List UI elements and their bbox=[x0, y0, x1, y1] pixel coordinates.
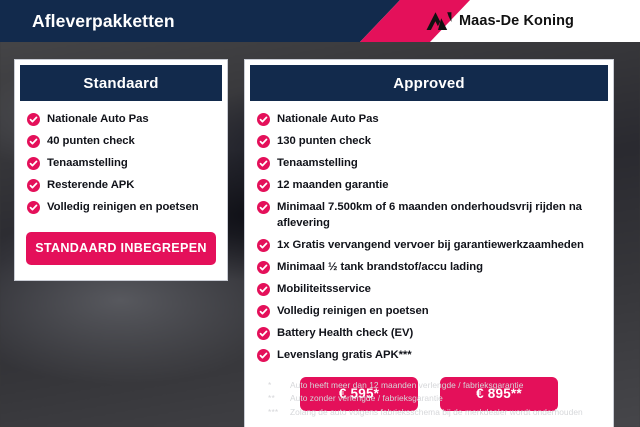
list-item: Tenaamstelling bbox=[27, 156, 217, 172]
list-item: 130 punten check bbox=[257, 134, 603, 150]
list-item: Tenaamstelling bbox=[257, 156, 603, 172]
footnote-marker: *** bbox=[268, 407, 286, 418]
footnote-row: *** Zolang de auto volgens fabrieksschem… bbox=[268, 407, 628, 418]
header-bar: Afleverpakketten Maas-De Koning bbox=[0, 0, 640, 42]
list-item: Volledig reinigen en poetsen bbox=[257, 304, 603, 320]
list-item: Volledig reinigen en poetsen bbox=[27, 200, 217, 216]
check-circle-icon bbox=[257, 305, 270, 318]
brand-logo: Maas-De Koning bbox=[426, 0, 574, 42]
card-header-standaard: Standaard bbox=[20, 65, 222, 101]
maas-de-koning-m-logo-icon bbox=[426, 11, 452, 31]
feature-label: Mobiliteitsservice bbox=[277, 282, 371, 298]
check-circle-icon bbox=[257, 201, 270, 214]
check-circle-icon bbox=[257, 283, 270, 296]
feature-list-standaard: Nationale Auto Pas 40 punten check Tenaa… bbox=[15, 101, 227, 216]
check-circle-icon bbox=[27, 201, 40, 214]
list-item: 1x Gratis vervangend vervoer bij garanti… bbox=[257, 238, 603, 254]
feature-label: 1x Gratis vervangend vervoer bij garanti… bbox=[277, 238, 584, 254]
check-circle-icon bbox=[257, 157, 270, 170]
list-item: Nationale Auto Pas bbox=[257, 112, 603, 128]
list-item: Minimaal 7.500km of 6 maanden onderhouds… bbox=[257, 200, 603, 231]
check-circle-icon bbox=[27, 135, 40, 148]
check-circle-icon bbox=[257, 327, 270, 340]
feature-label: 130 punten check bbox=[277, 134, 371, 150]
list-item: Levenslang gratis APK*** bbox=[257, 348, 603, 364]
card-header-approved: Approved bbox=[250, 65, 608, 101]
feature-label: Nationale Auto Pas bbox=[47, 112, 149, 128]
footnotes: * Auto heeft meer dan 12 maanden verleng… bbox=[268, 380, 628, 420]
check-circle-icon bbox=[257, 261, 270, 274]
package-card-approved: Approved Nationale Auto Pas 130 punten c… bbox=[244, 59, 614, 427]
list-item: Mobiliteitsservice bbox=[257, 282, 603, 298]
check-circle-icon bbox=[27, 179, 40, 192]
list-item: Minimaal ½ tank brandstof/accu lading bbox=[257, 260, 603, 276]
feature-label: Minimaal 7.500km of 6 maanden onderhouds… bbox=[277, 200, 603, 231]
feature-label: 40 punten check bbox=[47, 134, 135, 150]
feature-label: Tenaamstelling bbox=[277, 156, 358, 172]
page-title: Afleverpakketten bbox=[32, 0, 175, 42]
list-item: Nationale Auto Pas bbox=[27, 112, 217, 128]
card-title: Approved bbox=[393, 75, 465, 92]
check-circle-icon bbox=[27, 157, 40, 170]
check-circle-icon bbox=[257, 349, 270, 362]
list-item: 40 punten check bbox=[27, 134, 217, 150]
footnote-row: ** Auto zonder verlengde / fabrieksgaran… bbox=[268, 393, 628, 404]
feature-list-approved: Nationale Auto Pas 130 punten check Tena… bbox=[245, 101, 613, 364]
check-circle-icon bbox=[27, 113, 40, 126]
card-title: Standaard bbox=[83, 75, 158, 92]
feature-label: Nationale Auto Pas bbox=[277, 112, 379, 128]
feature-label: Resterende APK bbox=[47, 178, 134, 194]
check-circle-icon bbox=[257, 239, 270, 252]
feature-label: Volledig reinigen en poetsen bbox=[47, 200, 199, 216]
feature-label: Minimaal ½ tank brandstof/accu lading bbox=[277, 260, 483, 276]
footnote-marker: * bbox=[268, 380, 286, 391]
feature-label: Levenslang gratis APK*** bbox=[277, 348, 412, 364]
standaard-cta-container: STANDAARD INBEGREPEN bbox=[15, 222, 227, 280]
footnote-text: Zolang de auto volgens fabrieksschema bi… bbox=[290, 407, 583, 418]
feature-label: Battery Health check (EV) bbox=[277, 326, 413, 342]
brand-name: Maas-De Koning bbox=[459, 13, 574, 29]
footnote-text: Auto heeft meer dan 12 maanden verlengde… bbox=[290, 380, 523, 391]
feature-label: Volledig reinigen en poetsen bbox=[277, 304, 429, 320]
footnote-marker: ** bbox=[268, 393, 286, 404]
check-circle-icon bbox=[257, 113, 270, 126]
feature-label: Tenaamstelling bbox=[47, 156, 128, 172]
list-item: 12 maanden garantie bbox=[257, 178, 603, 194]
check-circle-icon bbox=[257, 135, 270, 148]
footnote-text: Auto zonder verlengde / fabrieksgarantie bbox=[290, 393, 443, 404]
list-item: Battery Health check (EV) bbox=[257, 326, 603, 342]
feature-label: 12 maanden garantie bbox=[277, 178, 388, 194]
check-circle-icon bbox=[257, 179, 270, 192]
standaard-inbegrepen-button[interactable]: STANDAARD INBEGREPEN bbox=[26, 232, 216, 265]
package-card-standaard: Standaard Nationale Auto Pas 40 punten c… bbox=[14, 59, 228, 281]
list-item: Resterende APK bbox=[27, 178, 217, 194]
footnote-row: * Auto heeft meer dan 12 maanden verleng… bbox=[268, 380, 628, 391]
